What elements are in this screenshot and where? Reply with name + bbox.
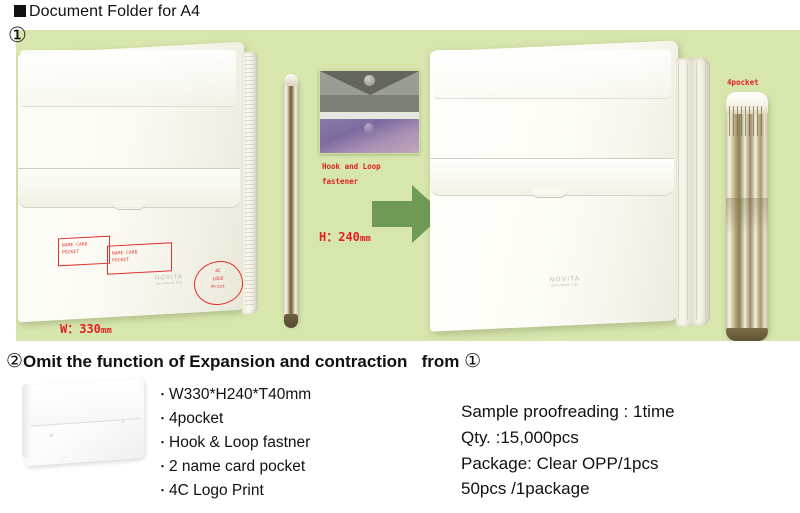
folder-gusset-pleats [678,61,708,320]
spec-bullet-3: ・ [157,461,168,473]
flat-folder-spine [22,384,31,459]
order-information-list: Sample proofreading : 1time Qty. :15,000… [461,399,675,502]
specification-list: ・W330*H240*T40mm ・4pocket ・Hook & Loop f… [157,383,311,503]
spec-item-0: ・W330*H240*T40mm [157,383,311,407]
folder-top-band [20,50,236,107]
height-dimension-label: H：240mm [319,228,371,245]
spec-text-2: Hook & Loop fastner [169,434,310,451]
spec-text-4: 4C Logo Print [169,482,264,499]
square-bullet-icon [14,5,26,17]
section2-title-text: Omit the function of Expansion and contr… [23,352,407,371]
height-unit: mm [360,234,371,244]
side-body [284,76,298,324]
expanded-side-bottom [726,328,768,341]
expanded-side-fold [726,198,768,232]
name-card-pocket-label-1: NAME CARD POCKET [62,242,88,257]
folder-top-band-expanded [433,50,671,99]
spec-item-3: ・2 name card pocket [157,455,311,479]
section2-from-text: from [422,352,460,371]
order-item-0: Sample proofreading : 1time [461,399,675,425]
spec-bullet-1: ・ [157,413,168,425]
section2-title: ②Omit the function of Expansion and cont… [6,350,481,373]
spec-bullet-0: ・ [157,389,168,401]
spec-text-0: W330*H240*T40mm [169,386,311,403]
folder-spine-ribs [245,56,254,307]
logo-line-3: Print [202,283,234,293]
folder-expanded-front-photo: NOVITA document file [430,38,710,333]
side-top-cap [284,74,298,86]
folder-expanded-side-photo [716,88,778,341]
section1-number: ① [8,25,27,46]
folder-closed-front-photo: NOVITA document file NAME CARD POCKET NA… [16,40,266,325]
folder-flat-photo [22,378,150,468]
section2-from-number: ① [464,351,481,372]
fastener-dot-bottom [364,123,374,133]
pocket-count-label: 4pocket [727,78,759,87]
spec-text-3: 2 name card pocket [169,458,305,475]
width-unit: mm [101,326,112,336]
spec-item-2: ・Hook & Loop fastner [157,431,311,455]
section2-number: ② [6,351,23,372]
side-bottom-cap [284,314,298,328]
nc1-line2: POCKET [62,249,88,257]
nc2-line2: POCKET [112,257,138,265]
product-photo-panel: NOVITA document file NAME CARD POCKET NA… [16,30,800,341]
hook-loop-fastener-inset-photo [319,70,420,154]
section1-title-text: Document Folder for A4 [29,3,200,20]
folder-flap-notch [112,200,146,210]
section1-title: Document Folder for A4 [14,3,200,21]
order-item-2: Package: Clear OPP/1pcs [461,451,675,477]
spec-bullet-2: ・ [157,437,168,449]
folder-collapsed-side-photo [276,70,306,330]
width-value: W：330 [60,322,101,336]
fastener-dot-top [364,75,375,86]
spec-item-1: ・4pocket [157,407,311,431]
spec-item-4: ・4C Logo Print [157,479,311,503]
order-item-1: Qty. :15,000pcs [461,425,675,451]
arrow-shaft [372,201,414,227]
expanded-pocket-fan [729,106,765,136]
width-dimension-label: W：330mm [60,320,112,337]
height-value: H：240 [319,230,360,244]
logo-print-label: 4C LOGO Print [202,267,234,293]
hook-label-line1: Hook and Loop [322,159,381,174]
folder-flap-notch-expanded [530,188,568,198]
inset-divider [320,112,419,119]
name-card-pocket-label-2: NAME CARD POCKET [112,250,138,265]
spec-text-1: 4pocket [169,410,223,427]
spec-bullet-4: ・ [157,485,168,497]
order-item-3: 50pcs /1package [461,476,675,502]
